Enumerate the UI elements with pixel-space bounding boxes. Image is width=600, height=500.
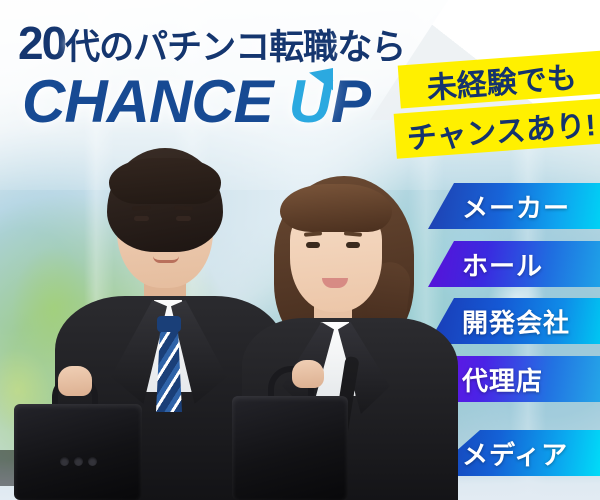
man-mouth bbox=[153, 256, 179, 263]
man-eye-right bbox=[176, 216, 191, 221]
woman-fringe bbox=[280, 184, 392, 232]
woman-eye-left bbox=[306, 242, 320, 248]
man-fringe bbox=[109, 158, 221, 204]
man-hand bbox=[58, 366, 92, 396]
man-striped-necktie bbox=[156, 326, 182, 412]
woman-hand bbox=[292, 360, 324, 388]
category-button-maker[interactable]: メーカー bbox=[428, 183, 600, 229]
briefcase-right bbox=[232, 396, 348, 500]
briefcase-left bbox=[14, 404, 142, 500]
man-necktie-knot bbox=[157, 316, 181, 332]
man-eye-left bbox=[134, 216, 149, 221]
briefcase-left-studs bbox=[60, 457, 97, 466]
category-button-hall[interactable]: ホール bbox=[428, 241, 600, 287]
category-button-development-company[interactable]: 開発会社 bbox=[428, 298, 600, 344]
advertisement-banner[interactable]: 20代のパチンコ転職なら CHANCEUP 未経験でも チャンスあり! メーカー… bbox=[0, 0, 600, 500]
woman-eye-right bbox=[346, 242, 360, 248]
